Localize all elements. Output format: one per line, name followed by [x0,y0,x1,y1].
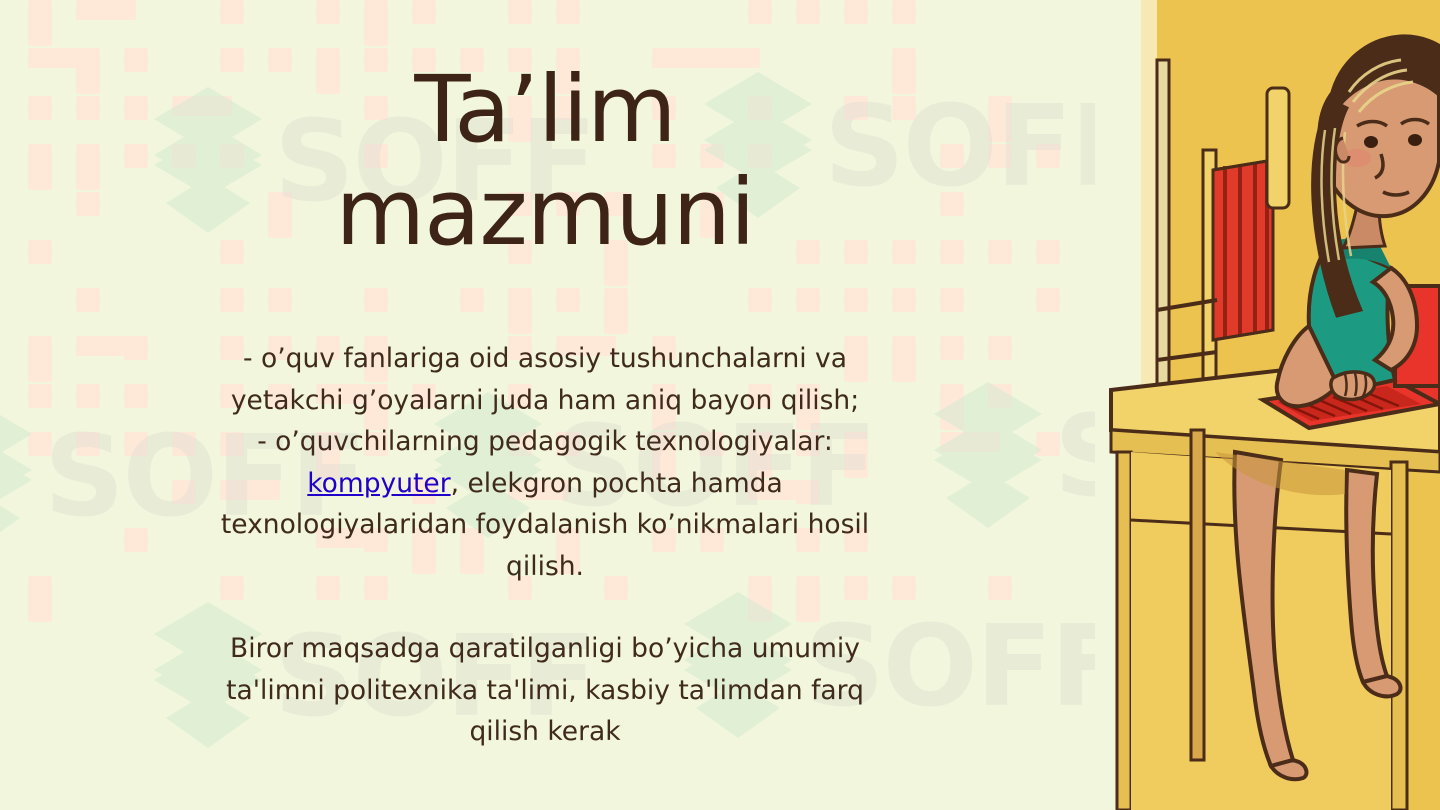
pattern-block [1036,144,1060,168]
body-line-4: kompyuter, elekgron pochta hamda [120,463,970,505]
pattern-block [364,0,388,46]
pattern-block [76,144,100,190]
body-line-9: qilish kerak [120,711,970,753]
body-text-block: - o’quv fanlariga oid asosiy tushunchala… [120,338,970,753]
watermark-zigzag-logo-icon [0,400,38,550]
pattern-block [28,48,88,68]
pattern-block [556,0,580,24]
watermark-mark [0,400,38,554]
pattern-block [988,384,1012,408]
pattern-block [76,432,100,456]
body-line-3: - o’quvchilarning pedagogik texnologiyal… [120,421,970,463]
illustration-girl-typing [1095,0,1440,810]
pattern-block [988,336,1012,360]
body-line-7: Biror maqsadga qaratilganligi bo’yicha u… [120,628,970,670]
page-title: Ta’limmazmuni [120,58,970,264]
pattern-block [844,0,868,24]
kompyuter-link[interactable]: kompyuter [307,468,450,499]
slide-canvas: SOFFSOFFSOFFSOFFSOFFSOFFSOFFSOFFSOFF Ta’… [0,0,1440,810]
pattern-block [76,192,100,216]
body-line-6: qilish. [120,546,970,588]
pattern-block [28,96,52,120]
pattern-block [28,336,52,382]
pattern-block [1036,432,1060,456]
body-line-5: texnologiyalaridan foydalanish ko’nikmal… [120,504,970,546]
pattern-block [76,288,100,312]
pattern-block [28,144,52,190]
body-line-1: - o’quv fanlariga oid asosiy tushunchala… [120,338,970,380]
pattern-block [220,0,244,24]
pattern-block [748,0,772,24]
pattern-block [28,240,52,264]
pattern-block [76,0,136,20]
pattern-block [988,240,1012,264]
pattern-block [988,96,1012,142]
pattern-block [76,96,100,120]
pattern-block [508,0,532,24]
pattern-block [28,432,52,456]
pattern-block [412,0,436,24]
body-line-2: yetakchi g’oyalarni juda ham aniq bayon … [120,380,970,422]
body-line-4-rest: , elekgron pochta hamda [451,468,783,499]
pattern-block [988,576,1012,600]
pattern-block [28,384,52,408]
pattern-block [316,0,340,24]
pattern-block [76,384,100,408]
pattern-block [1036,288,1060,312]
pattern-block [28,0,52,46]
paragraph-gap [120,587,970,628]
text-column: Ta’limmazmuni - o’quv fanlariga oid asos… [120,58,970,753]
pattern-block [76,48,100,94]
pattern-block [28,576,52,622]
pattern-block [892,0,916,24]
body-line-8: ta'limni politexnika ta'limi, kasbiy ta'… [120,670,970,712]
pattern-block [796,0,820,24]
pattern-block [988,144,1012,168]
pattern-block [1036,240,1060,264]
